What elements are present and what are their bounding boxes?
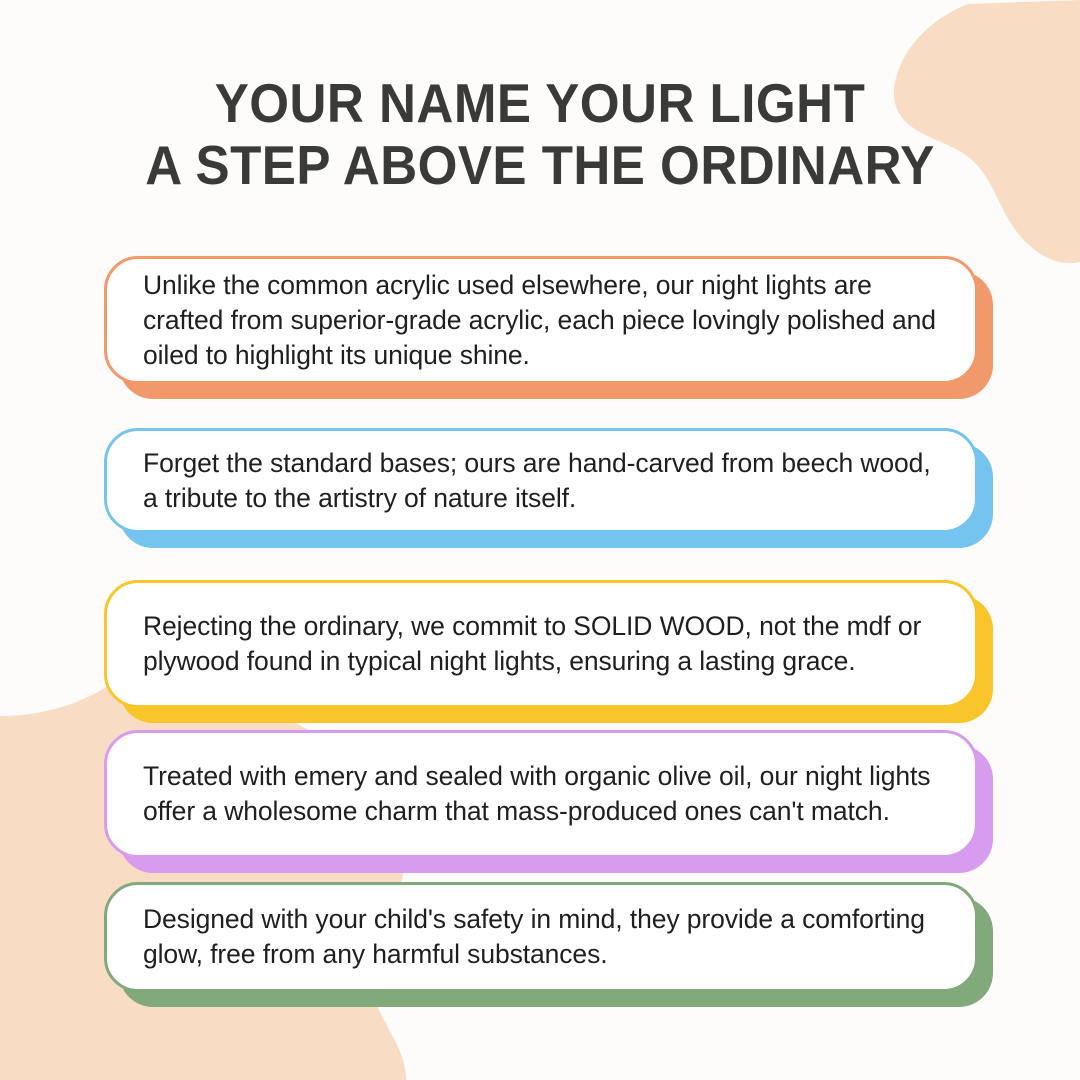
poster-canvas: YOUR NAME YOUR LIGHT A STEP ABOVE THE OR… (0, 0, 1080, 1080)
feature-card: Unlike the common acrylic used elsewhere… (104, 256, 978, 384)
card-text: Unlike the common acrylic used elsewhere… (143, 268, 947, 373)
card-text: Designed with your child's safety in min… (143, 902, 947, 972)
card-text: Forget the standard bases; ours are hand… (143, 446, 947, 516)
page-title: YOUR NAME YOUR LIGHT A STEP ABOVE THE OR… (0, 72, 1080, 196)
card-panel: Unlike the common acrylic used elsewhere… (104, 256, 978, 384)
feature-card: Designed with your child's safety in min… (104, 882, 978, 992)
feature-card: Forget the standard bases; ours are hand… (104, 428, 978, 533)
card-panel: Treated with emery and sealed with organ… (104, 730, 978, 858)
feature-card: Rejecting the ordinary, we commit to SOL… (104, 580, 978, 708)
feature-card: Treated with emery and sealed with organ… (104, 730, 978, 858)
card-text: Treated with emery and sealed with organ… (143, 759, 947, 829)
title-line-2: A STEP ABOVE THE ORDINARY (38, 134, 1042, 196)
card-panel: Rejecting the ordinary, we commit to SOL… (104, 580, 978, 708)
card-panel: Forget the standard bases; ours are hand… (104, 428, 978, 533)
title-line-1: YOUR NAME YOUR LIGHT (38, 72, 1042, 134)
card-panel: Designed with your child's safety in min… (104, 882, 978, 992)
card-text: Rejecting the ordinary, we commit to SOL… (143, 609, 947, 679)
